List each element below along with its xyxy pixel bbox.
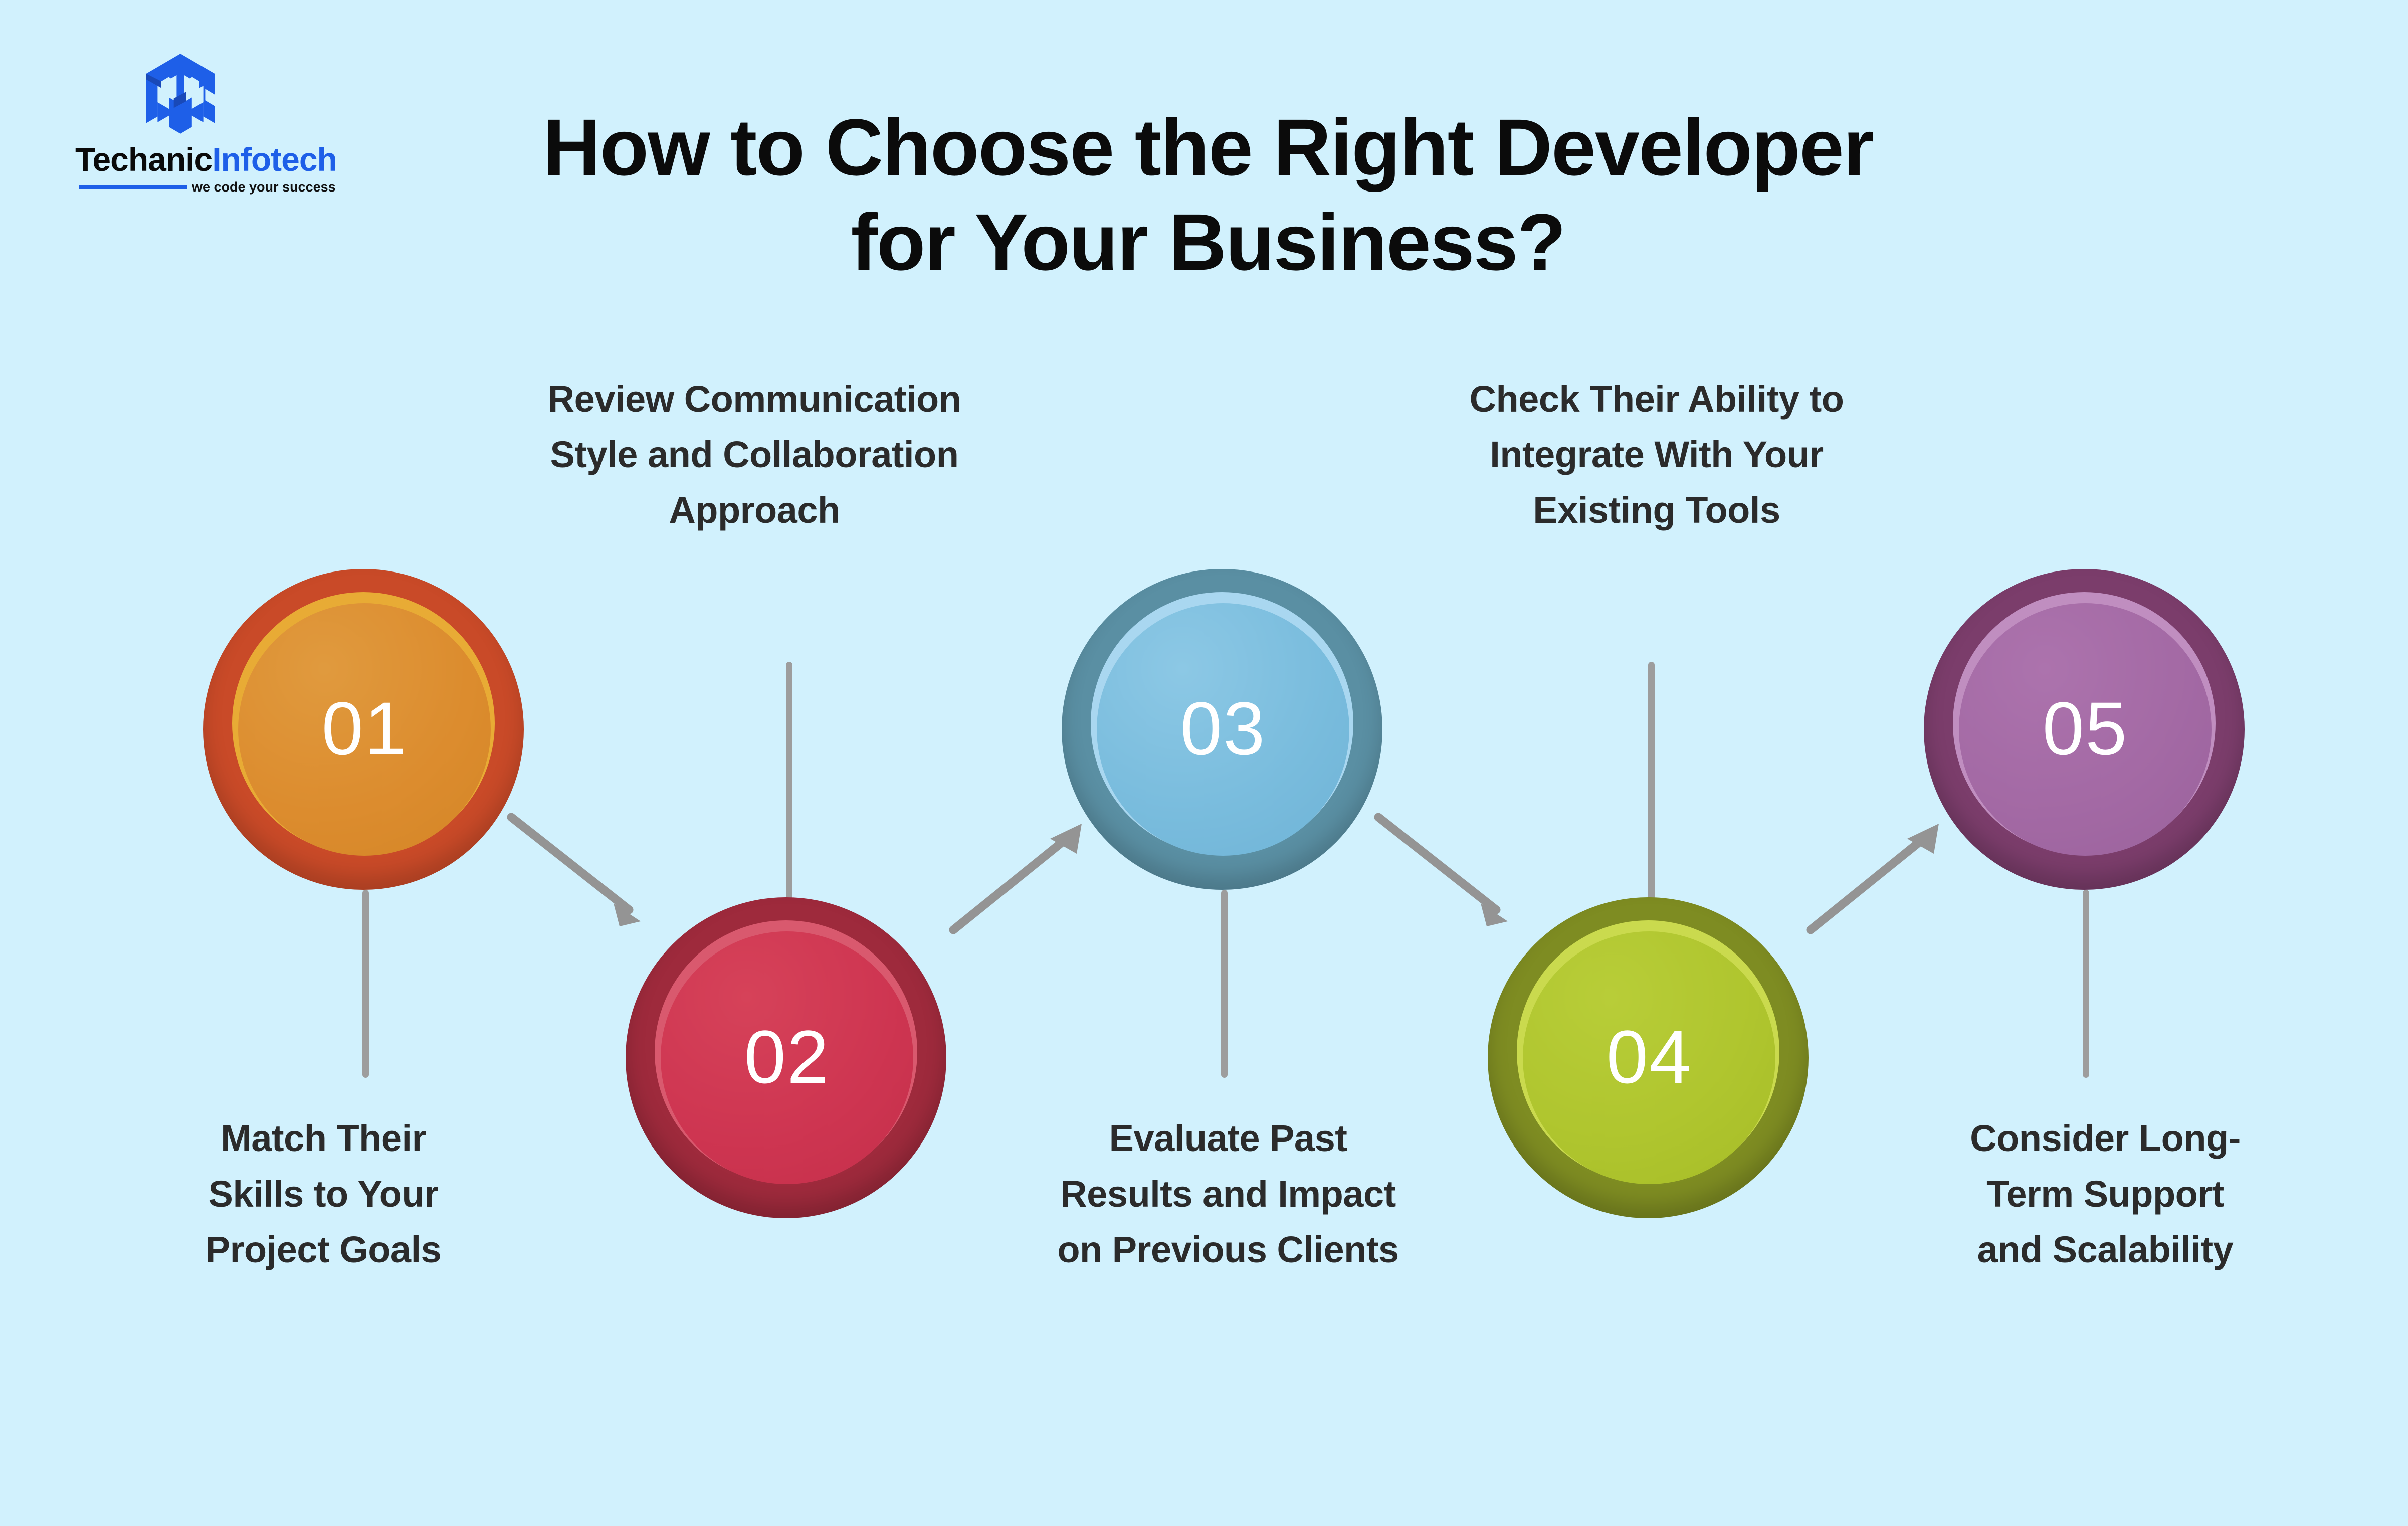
step-02-number: 02 [744,1019,830,1094]
step-02-core: 02 [661,931,913,1184]
step-node-02[interactable]: 02 [626,897,946,1218]
step-04-core: 04 [1523,931,1775,1184]
brand-logo[interactable]: TechanicInfotech we code your success [75,45,336,185]
step-label-03: Evaluate Past Results and Impact on Prev… [897,1110,1559,1277]
title-line-2: for Your Business? [481,195,1935,290]
stem-02 [786,662,792,912]
step-label-04-line-3: Existing Tools [1308,482,2005,538]
step-label-02: Review Communication Style and Collabora… [351,371,1158,538]
step-label-05-line-2: Term Support [1855,1166,2356,1222]
brand-name-part1: Techanic [75,141,212,178]
step-node-04[interactable]: 04 [1488,897,1809,1218]
step-label-05-line-1: Consider Long- [1855,1110,2356,1166]
stem-04 [1648,662,1655,912]
step-05-core: 05 [1959,603,2212,856]
isometric-cube-logo-icon [133,45,228,140]
stem-05 [2083,890,2089,1078]
stem-03 [1221,890,1228,1078]
title-line-1: How to Choose the Right Developer [481,100,1935,195]
step-04-number: 04 [1607,1019,1692,1094]
step-label-04-line-1: Check Their Ability to [1308,371,2005,427]
step-node-05[interactable]: 05 [1924,569,2245,890]
step-node-01[interactable]: 01 [203,569,524,890]
brand-tagline: we code your success [192,179,336,195]
step-01-core: 01 [238,603,491,856]
step-01-number: 01 [322,691,408,766]
brand-wordmark: TechanicInfotech [75,140,336,178]
brand-tagline-row: we code your success [75,179,336,195]
step-label-04: Check Their Ability to Integrate With Yo… [1308,371,2005,538]
step-label-02-line-2: Style and Collaboration [351,427,1158,482]
page-title: How to Choose the Right Developer for Yo… [481,100,1935,290]
step-label-05-line-3: and Scalability [1855,1222,2356,1277]
brand-name-part2: Infotech [212,141,337,178]
step-label-02-line-1: Review Communication [351,371,1158,427]
step-label-01: Match Their Skills to Your Project Goals [55,1110,591,1277]
stem-01 [362,890,369,1078]
step-label-03-line-3: on Previous Clients [897,1222,1559,1277]
step-label-01-line-3: Project Goals [55,1222,591,1277]
step-03-number: 03 [1180,691,1266,766]
step-label-03-line-2: Results and Impact [897,1166,1559,1222]
divider-rule [79,185,187,189]
step-label-05: Consider Long- Term Support and Scalabil… [1855,1110,2356,1277]
step-03-core: 03 [1097,603,1349,856]
infographic-canvas: TechanicInfotech we code your success Ho… [0,0,2408,1526]
step-label-04-line-2: Integrate With Your [1308,427,2005,482]
step-label-01-line-2: Skills to Your [55,1166,591,1222]
step-node-03[interactable]: 03 [1062,569,1382,890]
step-label-02-line-3: Approach [351,482,1158,538]
step-label-03-line-1: Evaluate Past [897,1110,1559,1166]
step-label-01-line-1: Match Their [55,1110,591,1166]
step-05-number: 05 [2043,691,2128,766]
